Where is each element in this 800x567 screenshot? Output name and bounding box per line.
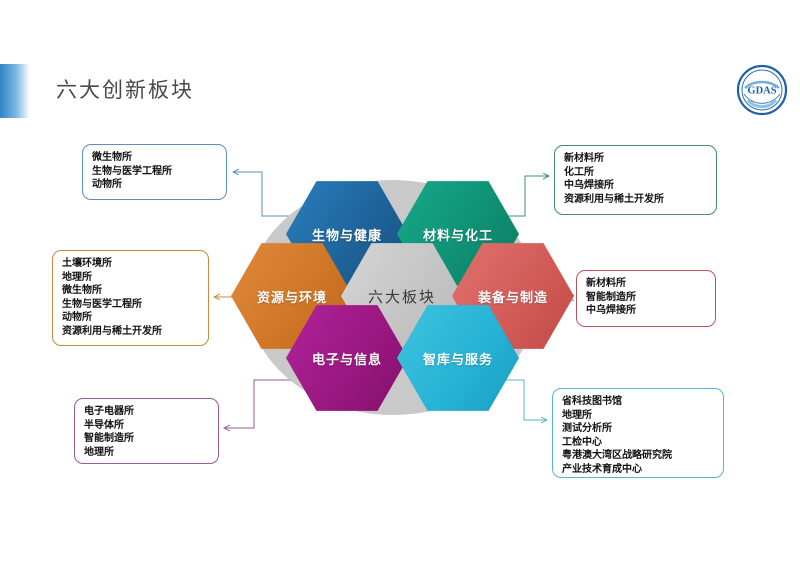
hexagon-center-label: 六大板块 [368,286,436,307]
callout-box-resources: 土壤环境所 地理所 微生物所 生物与医学工程所 动物所 资源利用与稀土开发所 [52,250,209,346]
connector-bio [233,172,290,216]
callout-box-bio: 微生物所 生物与医学工程所 动物所 [82,144,227,200]
callout-box-materials: 新材料所 化工所 中乌焊接所 资源利用与稀土开发所 [554,145,717,215]
connector-electronics [224,380,290,428]
page-title: 六大创新板块 [56,74,194,104]
hexagon-resources-label: 资源与环境 [257,287,327,306]
callout-box-electronics: 电子电器所 半导体所 智能制造所 地理所 [74,398,219,464]
hexagon-electronics-label: 电子与信息 [312,349,382,368]
hexagon-materials-label: 材料与化工 [423,225,493,244]
header-accent-bar [0,64,30,118]
hexagon-bio-label: 生物与健康 [312,225,382,244]
callout-box-thinktank: 省科技图书馆 地理所 测试分析所 工检中心 粤港澳大湾区战略研究院 产业技术育成… [552,388,724,478]
gdas-logo: GDAS [736,64,788,116]
slide-canvas: 六大创新板块 GDAS [0,0,800,567]
hexagon-thinktank-label: 智库与服务 [423,349,493,368]
callout-box-equipment: 新材料所 智能制造所 中乌焊接所 [576,270,716,327]
logo-text: GDAS [747,86,776,97]
hexagon-equipment-label: 装备与制造 [478,287,548,306]
